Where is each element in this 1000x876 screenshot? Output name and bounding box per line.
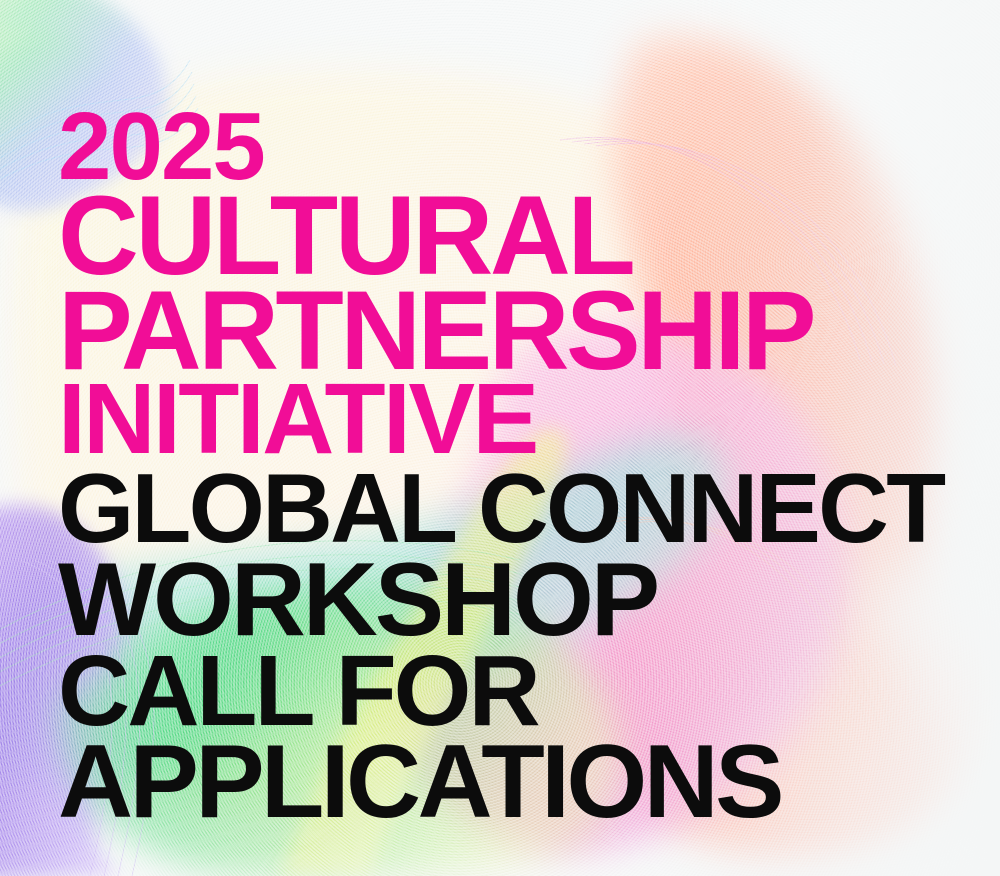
headline-workshop: WORKSHOP — [58, 558, 657, 643]
headline-call-for: CALL FOR — [58, 650, 538, 732]
headline-global-connect: GLOBAL CONNECT — [58, 468, 943, 548]
headline-initiative: INITIATIVE — [58, 378, 537, 460]
headline-applications: APPLICATIONS — [58, 740, 781, 825]
headline-stack: 2025 CULTURAL PARTNERSHIP INITIATIVE GLO… — [0, 0, 1000, 876]
poster-canvas: 2025 CULTURAL PARTNERSHIP INITIATIVE GLO… — [0, 0, 1000, 876]
